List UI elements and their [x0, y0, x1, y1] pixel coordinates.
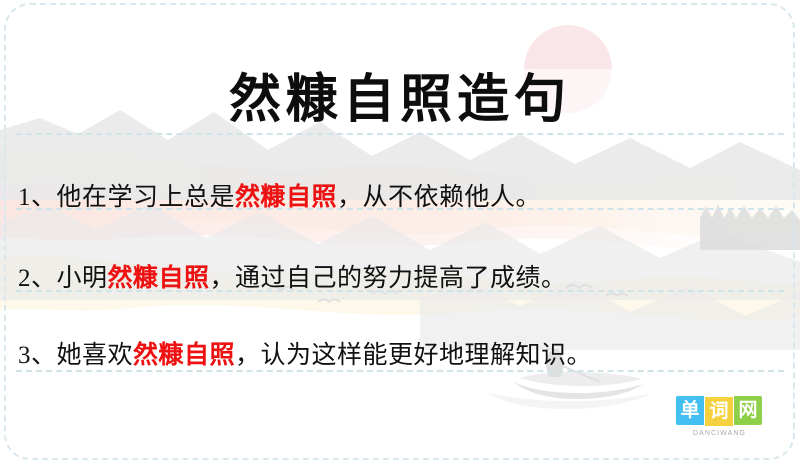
logo-tiles: 单 词 网 — [676, 396, 768, 426]
divider-line-3 — [16, 290, 784, 292]
divider-line-4 — [16, 370, 784, 372]
sentence-1-text-after: ，从不依赖他人。 — [337, 184, 541, 211]
page-title: 然糠自照造句 — [0, 71, 800, 131]
sentence-3-idiom: 然糠自照 — [133, 342, 235, 369]
sentence-2-text-after: ，通过自己的努力提高了成绩。 — [210, 265, 567, 292]
site-logo[interactable]: 单 词 网 DANCIWANG — [676, 396, 768, 442]
sentence-1-idiom: 然糠自照 — [235, 184, 337, 211]
sentence-3-text-after: ，认为这样能更好地理解知识。 — [235, 342, 592, 369]
example-sentence-3: 3、她喜欢然糠自照，认为这样能更好地理解知识。 — [18, 340, 778, 372]
logo-tile-1: 单 — [676, 396, 704, 425]
sentence-2-text-before: 小明 — [57, 265, 108, 292]
divider-line-1 — [16, 133, 784, 135]
sentence-3-index: 3、 — [18, 342, 57, 369]
logo-caption: DANCIWANG — [676, 430, 763, 437]
sentence-1-index: 1、 — [18, 184, 57, 211]
sentence-1-text-before: 他在学习上总是 — [57, 184, 236, 211]
divider-line-2 — [16, 208, 784, 210]
logo-tile-3: 网 — [734, 396, 762, 425]
slide-canvas: 然糠自照造句 1、他在学习上总是然糠自照，从不依赖他人。 2、小明然糠自照，通过… — [0, 0, 800, 464]
sentence-2-idiom: 然糠自照 — [108, 265, 210, 292]
logo-tile-2: 词 — [705, 397, 733, 426]
sentence-3-text-before: 她喜欢 — [57, 342, 134, 369]
sentence-2-index: 2、 — [18, 265, 57, 292]
